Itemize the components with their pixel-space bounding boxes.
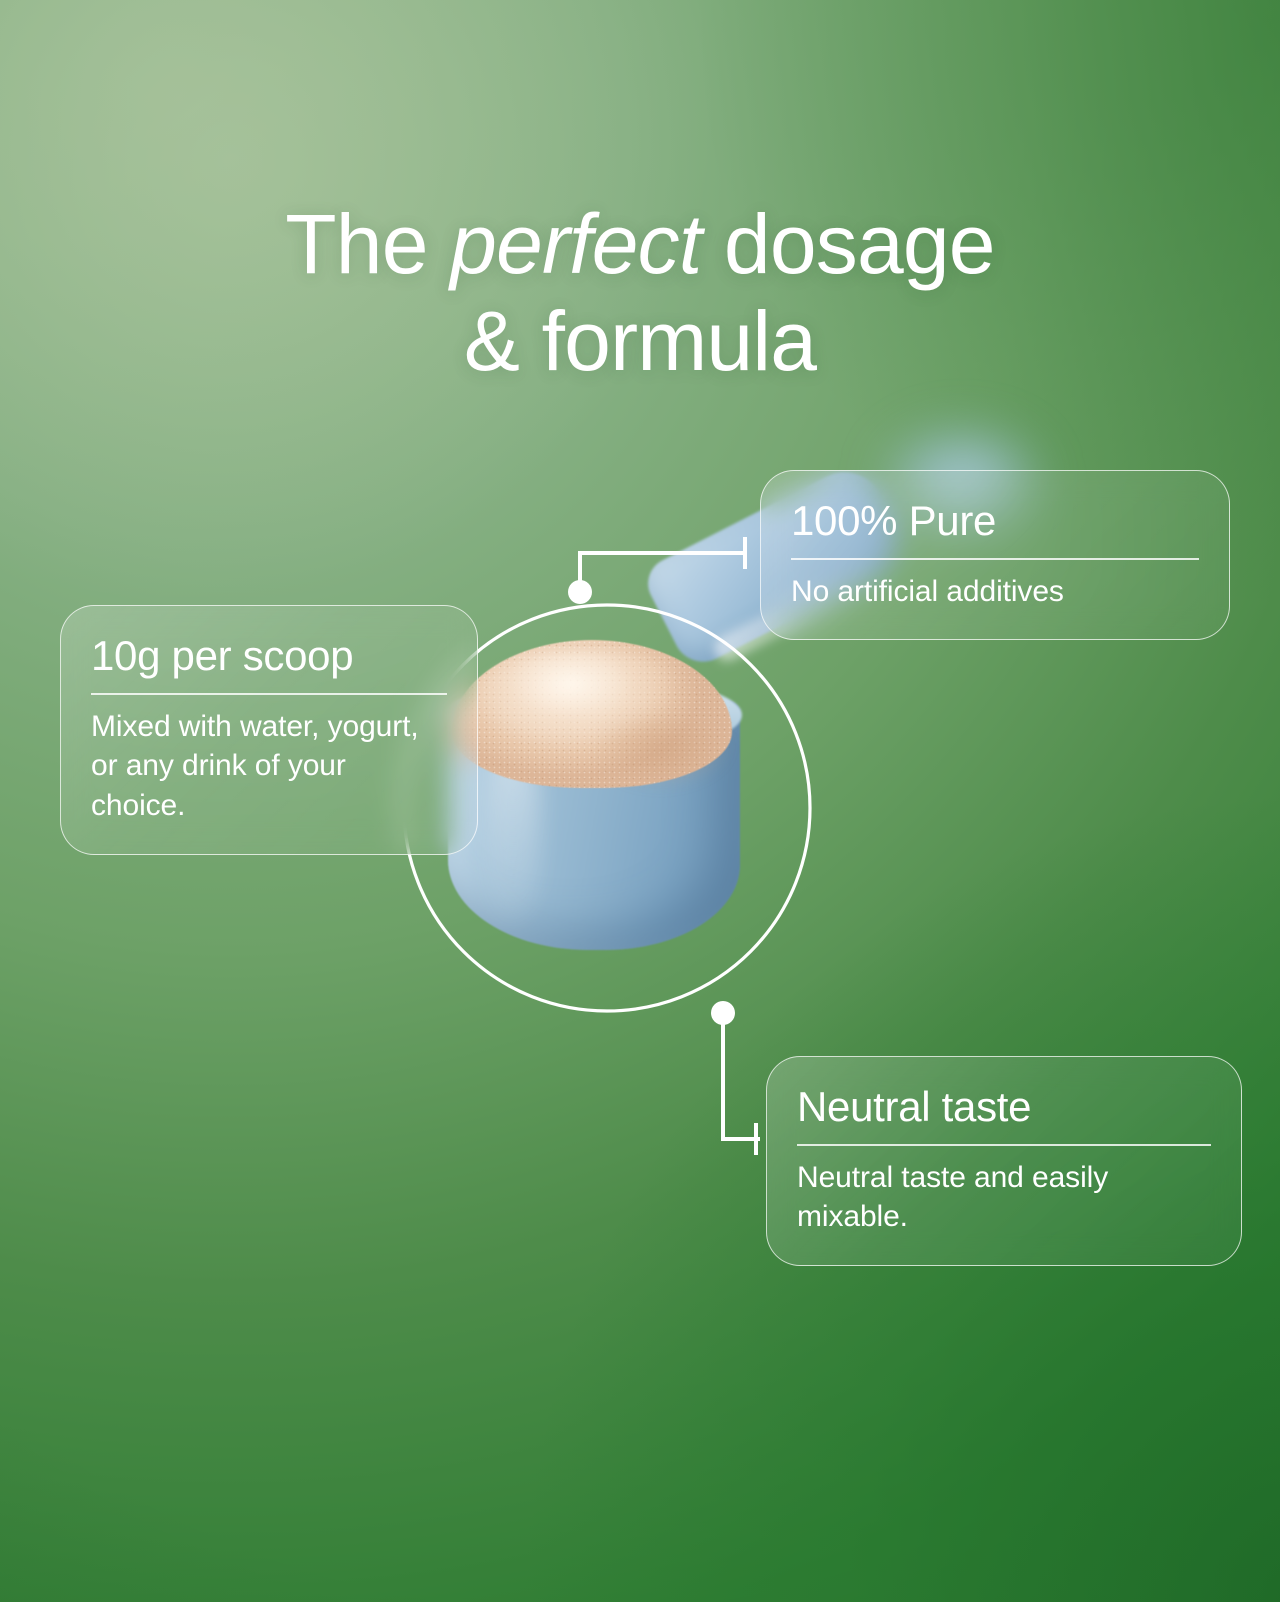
callout-title-scoop: 10g per scoop: [91, 632, 447, 679]
page-title: The perfect dosage & formula: [0, 196, 1280, 391]
callout-card-pure: 100% Pure No artificial additives: [760, 470, 1230, 640]
callout-title-taste: Neutral taste: [797, 1083, 1211, 1130]
headline-text-before: The: [285, 197, 450, 291]
headline-line-1: The perfect dosage: [285, 197, 994, 291]
connector-to-taste-card: [723, 1013, 758, 1139]
promo-graphic: The perfect dosage & formula 100% Pure N…: [0, 0, 1280, 1602]
callout-subtitle-pure: No artificial additives: [791, 572, 1199, 612]
headline-line-2: & formula: [0, 293, 1280, 390]
connector-to-pure-card: [580, 553, 745, 592]
callout-card-scoop: 10g per scoop Mixed with water, yogurt, …: [60, 605, 478, 855]
callout-divider-taste: [797, 1144, 1211, 1146]
callout-divider-pure: [791, 558, 1199, 560]
connector-top-dot: [568, 580, 592, 604]
callout-divider-scoop: [91, 693, 447, 695]
callout-subtitle-scoop: Mixed with water, yogurt, or any drink o…: [91, 707, 447, 827]
callout-subtitle-taste: Neutral taste and easily mixable.: [797, 1158, 1211, 1238]
headline-text-after: dosage: [701, 197, 994, 291]
callout-card-taste: Neutral taste Neutral taste and easily m…: [766, 1056, 1242, 1266]
connector-bottom-dot: [711, 1001, 735, 1025]
headline-emphasis: perfect: [450, 197, 701, 291]
callout-title-pure: 100% Pure: [791, 497, 1199, 544]
